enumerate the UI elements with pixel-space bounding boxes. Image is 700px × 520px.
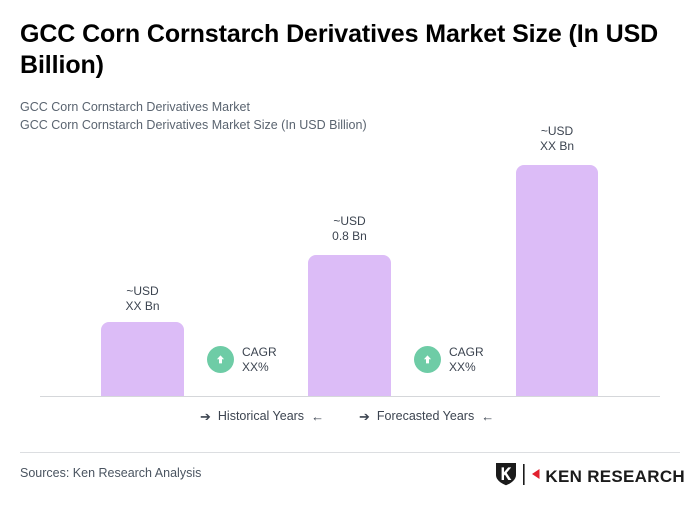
- bar-1[interactable]: [101, 322, 184, 396]
- period-legend-forecasted-label: Forecasted Years: [377, 409, 474, 423]
- cagr-label-1-line2: XX%: [242, 360, 277, 375]
- sources-label: Sources: Ken Research Analysis: [20, 466, 201, 480]
- bar-value-label-1: ~USD XX Bn: [101, 284, 184, 313]
- bar-value-label-3-line2: XX Bn: [516, 139, 598, 154]
- bar-chart: ~USD XX Bn ~USD 0.8 Bn ~USD XX Bn CAGR X…: [0, 0, 700, 520]
- ken-research-logo: KEN RESEARCH: [495, 462, 685, 491]
- arrow-right-icon: ➔: [200, 410, 211, 423]
- arrow-up-icon: [207, 346, 234, 373]
- period-legend-forecasted: ➔ Forecasted Years ←: [359, 409, 494, 423]
- bar-value-label-2-line2: 0.8 Bn: [308, 229, 391, 244]
- period-legend-historical: ➔ Historical Years ←: [200, 409, 324, 423]
- arrow-left-icon: ←: [311, 410, 324, 423]
- bar-2[interactable]: [308, 255, 391, 396]
- ken-research-shield-icon: [495, 462, 517, 491]
- bar-3[interactable]: [516, 165, 598, 396]
- cagr-annotation-2: CAGR XX%: [414, 345, 484, 374]
- chart-page: GCC Corn Cornstarch Derivatives Market S…: [0, 0, 700, 520]
- cagr-label-2-line2: XX%: [449, 360, 484, 375]
- cagr-label-1: CAGR XX%: [242, 345, 277, 374]
- cagr-label-2-line1: CAGR: [449, 345, 484, 360]
- bar-value-label-3-line1: ~USD: [516, 124, 598, 139]
- period-legend-historical-label: Historical Years: [218, 409, 304, 423]
- period-legend: ➔ Historical Years ← ➔ Forecasted Years …: [40, 409, 660, 429]
- logo-divider-bar: [522, 464, 526, 490]
- cagr-annotation-1: CAGR XX%: [207, 345, 277, 374]
- footer-divider: [20, 452, 680, 453]
- axis-baseline: [40, 396, 660, 397]
- logo-wordmark: KEN RESEARCH: [545, 468, 685, 485]
- logo-accent-triangle-icon: [531, 464, 540, 489]
- bar-value-label-3: ~USD XX Bn: [516, 124, 598, 153]
- arrow-left-icon: ←: [481, 410, 494, 423]
- bar-value-label-2-line1: ~USD: [308, 214, 391, 229]
- cagr-label-2: CAGR XX%: [449, 345, 484, 374]
- bar-value-label-1-line2: XX Bn: [101, 299, 184, 314]
- arrow-right-icon: ➔: [359, 410, 370, 423]
- bar-value-label-2: ~USD 0.8 Bn: [308, 214, 391, 243]
- arrow-up-icon: [414, 346, 441, 373]
- bar-value-label-1-line1: ~USD: [101, 284, 184, 299]
- cagr-label-1-line1: CAGR: [242, 345, 277, 360]
